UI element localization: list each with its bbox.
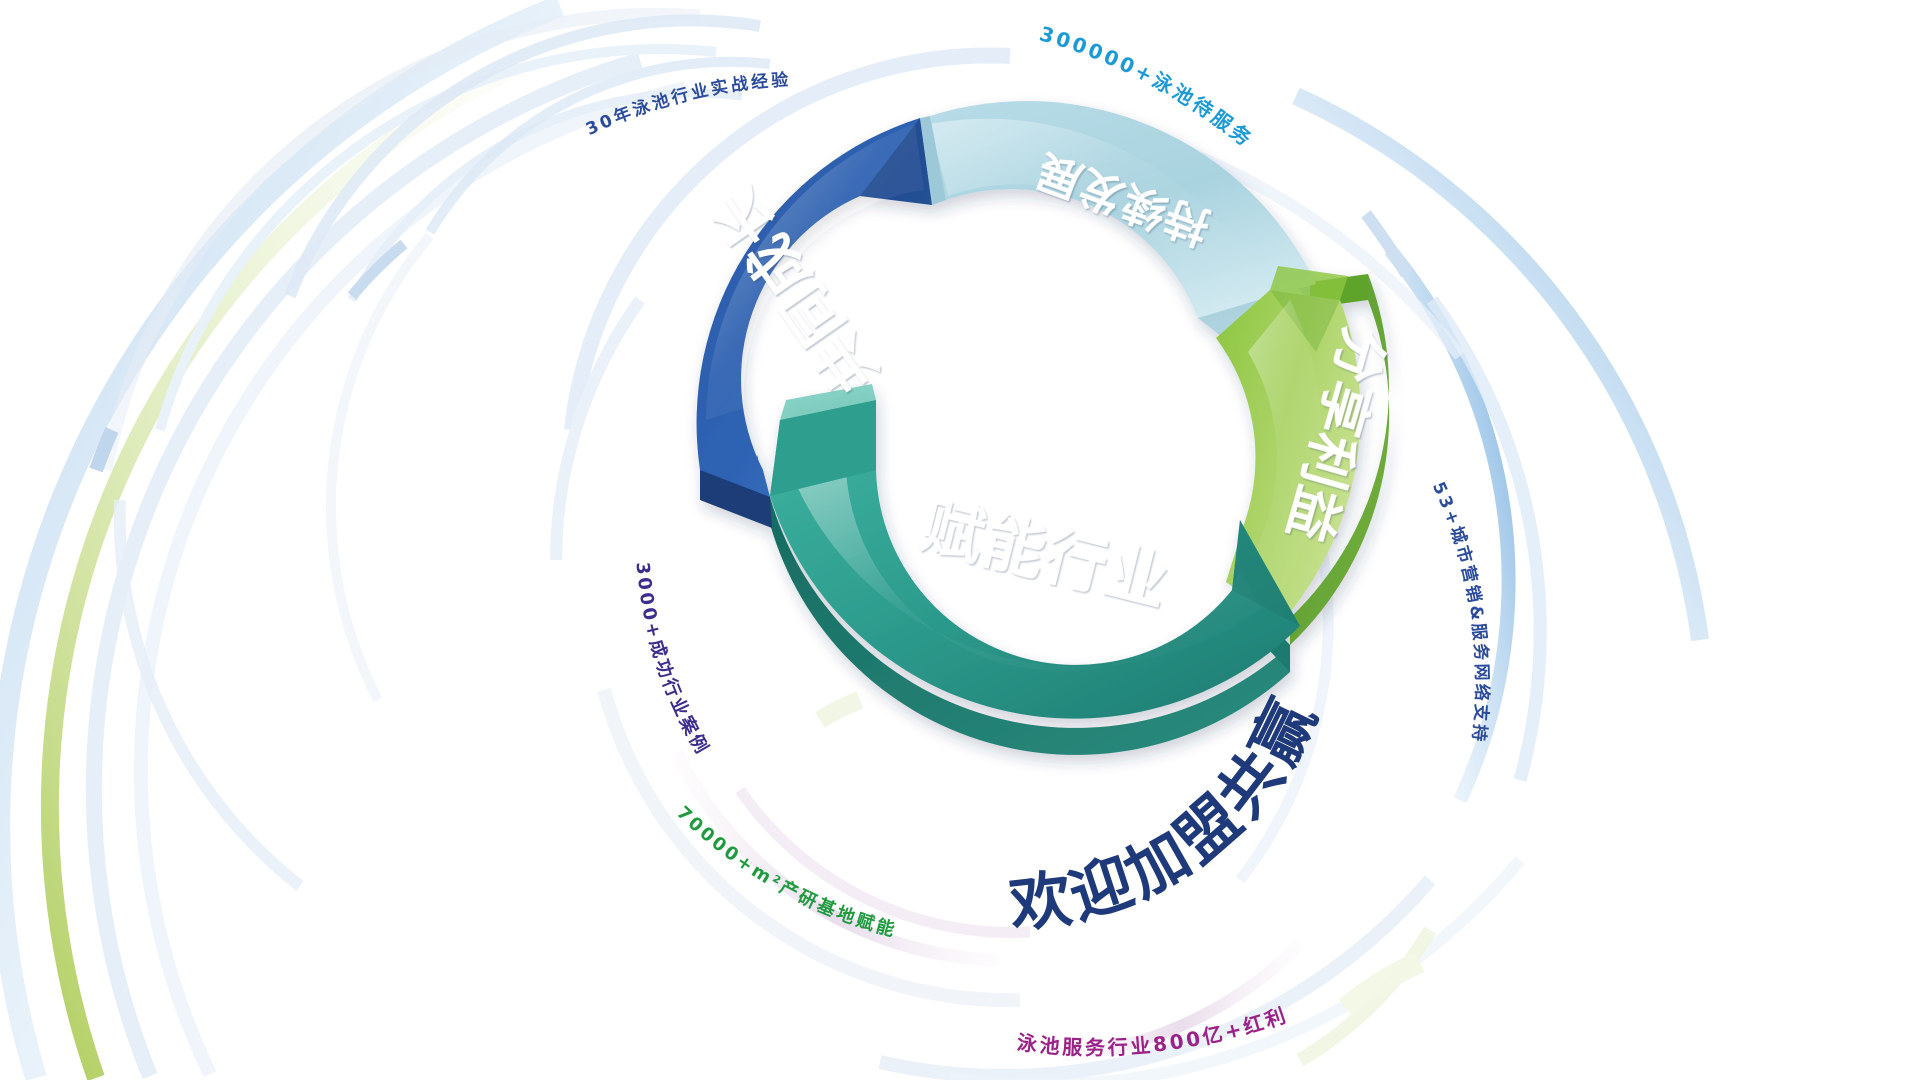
ring-label-funengxingye: 赋能行业 [914,488,1176,620]
stat-success-cases: 3000+成功行业案例 [632,561,715,759]
stat-city-network: 53+城市营销&服务网络支持 [1428,479,1492,745]
stat-city-network-text: 53+城市营销&服务网络支持 [1428,479,1492,745]
stat-success-cases-text: 3000+成功行业案例 [632,561,715,759]
infographic-canvas: 共同成长 持续发展 分享利益 赋能行业 30年泳池行业实战经验 300000+泳… [0,0,1920,1080]
